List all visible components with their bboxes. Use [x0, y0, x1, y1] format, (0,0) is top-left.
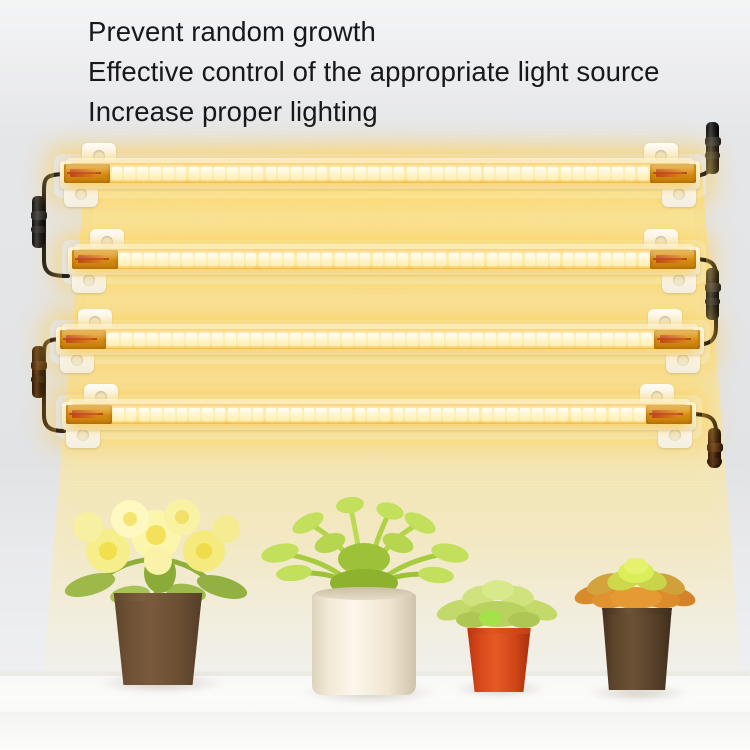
led-chip [108, 333, 119, 346]
mount-hole-icon [669, 429, 681, 441]
led-chip [157, 253, 167, 266]
led-chip [485, 333, 496, 346]
led-chip [496, 167, 507, 180]
led-chip [126, 408, 137, 421]
led-chip [163, 167, 174, 180]
led-strip-4[interactable] [62, 393, 696, 439]
pot-terracotta [466, 628, 532, 692]
led-array-3 [66, 329, 694, 349]
led-chip [431, 408, 442, 421]
product-image: Prevent random growth Effective control … [0, 0, 750, 750]
connector-right-middle [706, 268, 719, 320]
led-chip [199, 333, 210, 346]
led-chip [494, 408, 505, 421]
led-chip [291, 167, 302, 180]
led-chip [432, 167, 443, 180]
mount-hole-icon [673, 274, 685, 286]
led-chip [588, 253, 598, 266]
led-chip [189, 167, 200, 180]
led-chip [303, 333, 314, 346]
led-chip [290, 333, 301, 346]
led-chip [342, 167, 353, 180]
led-chip [471, 167, 482, 180]
led-chip [380, 408, 391, 421]
led-chip [443, 408, 454, 421]
led-chip [535, 167, 546, 180]
led-chip [626, 253, 636, 266]
led-chip [202, 408, 213, 421]
led-chip [119, 253, 129, 266]
mount-hole-icon [75, 188, 87, 200]
led-chip [330, 167, 341, 180]
led-chip [151, 408, 162, 421]
led-chip [278, 408, 289, 421]
led-chip [160, 333, 171, 346]
led-chip [266, 167, 277, 180]
led-chip [317, 167, 328, 180]
led-chip [124, 167, 135, 180]
mount-hole-icon [83, 274, 95, 286]
led-chip [507, 408, 518, 421]
led-chip [512, 253, 522, 266]
led-chip [238, 333, 249, 346]
led-chip [484, 167, 495, 180]
led-chip [472, 333, 483, 346]
led-chip [186, 333, 197, 346]
led-chip [583, 408, 594, 421]
led-chip [407, 167, 418, 180]
led-chip [220, 253, 230, 266]
led-chip [625, 167, 636, 180]
pot-inner-2 [315, 587, 413, 600]
led-chip [641, 333, 652, 346]
led-chip [385, 253, 395, 266]
led-chip [113, 408, 124, 421]
led-chip [368, 167, 379, 180]
led-chip [381, 167, 392, 180]
led-strip-2[interactable] [68, 238, 700, 284]
led-chip [563, 333, 574, 346]
led-chip [532, 408, 543, 421]
pcb-endcap-right-1 [650, 164, 696, 183]
led-chip [558, 408, 569, 421]
led-chip [420, 333, 431, 346]
led-strip-1[interactable] [60, 152, 700, 198]
headline-line-1: Prevent random growth [88, 12, 738, 52]
led-chip [563, 253, 573, 266]
led-chip [164, 408, 175, 421]
led-chip [418, 408, 429, 421]
pcb-endcap-left-1 [64, 164, 110, 183]
led-chip [316, 408, 327, 421]
pcb-endcap-right-3 [654, 330, 700, 349]
led-chip [411, 253, 421, 266]
led-chip [639, 253, 649, 266]
led-chip [407, 333, 418, 346]
led-chip [459, 333, 470, 346]
led-chip [329, 333, 340, 346]
led-chip [342, 333, 353, 346]
led-chip [615, 333, 626, 346]
pcb-endcap-left-3 [60, 330, 106, 349]
led-chip [522, 167, 533, 180]
led-chip [511, 333, 522, 346]
led-chip [634, 408, 645, 421]
led-chip [253, 167, 264, 180]
led-chip [602, 333, 613, 346]
led-chip [599, 167, 610, 180]
led-chip [212, 333, 223, 346]
led-chip [147, 333, 158, 346]
led-channel-4 [72, 404, 686, 424]
pcb-endcap-left-2 [72, 250, 118, 269]
connector-top-right [706, 122, 719, 174]
led-chip [360, 253, 370, 266]
headline-block: Prevent random growth Effective control … [88, 12, 738, 132]
led-chip [215, 408, 226, 421]
led-chip [482, 408, 493, 421]
led-chip [537, 253, 547, 266]
led-chip [214, 167, 225, 180]
led-chip [297, 253, 307, 266]
led-chip [251, 333, 262, 346]
led-chip [335, 253, 345, 266]
led-chip [509, 167, 520, 180]
led-chip [609, 408, 620, 421]
led-chip [596, 408, 607, 421]
led-chip [461, 253, 471, 266]
led-chip [189, 408, 200, 421]
led-chip [524, 333, 535, 346]
led-chip [266, 408, 277, 421]
led-chip [499, 253, 509, 266]
pcb-endcap-right-2 [650, 250, 696, 269]
pcb-endcap-left-4 [66, 405, 112, 424]
led-chip [355, 167, 366, 180]
led-chip [573, 167, 584, 180]
led-chip [134, 333, 145, 346]
led-chip [139, 408, 150, 421]
led-chip [458, 167, 469, 180]
led-chip [304, 408, 315, 421]
led-chip [284, 253, 294, 266]
led-chip [278, 167, 289, 180]
led-chip [264, 333, 275, 346]
led-chip [271, 253, 281, 266]
led-chip [550, 333, 561, 346]
led-chip [253, 408, 264, 421]
led-chip [525, 253, 535, 266]
led-chip [405, 408, 416, 421]
led-strip-3[interactable] [56, 318, 704, 364]
led-chip [304, 167, 315, 180]
led-chip [576, 333, 587, 346]
led-chip [498, 333, 509, 346]
led-chip [137, 167, 148, 180]
led-chip [423, 253, 433, 266]
led-chip [132, 253, 142, 266]
led-chip [316, 333, 327, 346]
led-chip [550, 253, 560, 266]
led-chip [446, 333, 457, 346]
led-chip [474, 253, 484, 266]
led-channel-3 [66, 329, 694, 349]
led-chip [433, 333, 444, 346]
led-chip [144, 253, 154, 266]
mount-hole-icon [673, 188, 685, 200]
led-chip [246, 253, 256, 266]
led-chip [182, 253, 192, 266]
led-chip [394, 167, 405, 180]
led-chip [487, 253, 497, 266]
led-chip [121, 333, 132, 346]
led-chip [575, 253, 585, 266]
led-chip [355, 333, 366, 346]
led-chip [548, 167, 559, 180]
led-chip [228, 408, 239, 421]
led-chip [419, 167, 430, 180]
pot-cream [312, 593, 416, 695]
led-chip [355, 408, 366, 421]
led-chip [173, 333, 184, 346]
led-chip [638, 167, 649, 180]
led-chip [628, 333, 639, 346]
led-chip [561, 167, 572, 180]
led-channel-1 [70, 163, 690, 183]
led-array-4 [72, 404, 686, 424]
led-chip [436, 253, 446, 266]
led-chip [240, 167, 251, 180]
led-chip [291, 408, 302, 421]
led-chip [586, 167, 597, 180]
connector-left-upper [32, 196, 45, 248]
led-chip [342, 408, 353, 421]
led-chip [329, 408, 340, 421]
led-chip [225, 333, 236, 346]
led-chip [322, 253, 332, 266]
pot-dark-square [600, 608, 674, 690]
mount-hole-icon [71, 354, 83, 366]
led-chip [612, 167, 623, 180]
led-chip [537, 333, 548, 346]
led-chip [176, 167, 187, 180]
led-chip [195, 253, 205, 266]
led-chip [621, 408, 632, 421]
led-chip [613, 253, 623, 266]
led-chip [469, 408, 480, 421]
led-chip [112, 167, 123, 180]
led-chip [347, 253, 357, 266]
led-chip [240, 408, 251, 421]
led-chip [201, 167, 212, 180]
led-chip [233, 253, 243, 266]
led-chip [208, 253, 218, 266]
led-chip [545, 408, 556, 421]
led-channel-2 [78, 249, 690, 269]
led-chip [393, 408, 404, 421]
led-chip [449, 253, 459, 266]
led-chip [309, 253, 319, 266]
led-chip [520, 408, 531, 421]
led-chip [394, 333, 405, 346]
led-chip [367, 408, 378, 421]
headline-line-2: Effective control of the appropriate lig… [88, 52, 738, 92]
led-chip [589, 333, 600, 346]
led-chip [445, 167, 456, 180]
led-chip [177, 408, 188, 421]
headline-line-3: Increase proper lighting [88, 92, 738, 132]
led-chip [456, 408, 467, 421]
led-chip [227, 167, 238, 180]
led-chip [398, 253, 408, 266]
led-array-1 [70, 163, 690, 183]
table-front-face [0, 712, 750, 750]
pot-brown [110, 593, 206, 685]
led-chip [150, 167, 161, 180]
led-chip [373, 253, 383, 266]
led-chip [259, 253, 269, 266]
led-chip [277, 333, 288, 346]
led-chip [368, 333, 379, 346]
led-chip [601, 253, 611, 266]
mount-hole-icon [677, 354, 689, 366]
pcb-endcap-right-4 [646, 405, 692, 424]
connector-bottom-right [708, 428, 721, 468]
led-array-2 [78, 249, 690, 269]
mount-hole-icon [77, 429, 89, 441]
led-chip [170, 253, 180, 266]
connector-left-lower [32, 346, 45, 398]
led-chip [381, 333, 392, 346]
led-chip [571, 408, 582, 421]
